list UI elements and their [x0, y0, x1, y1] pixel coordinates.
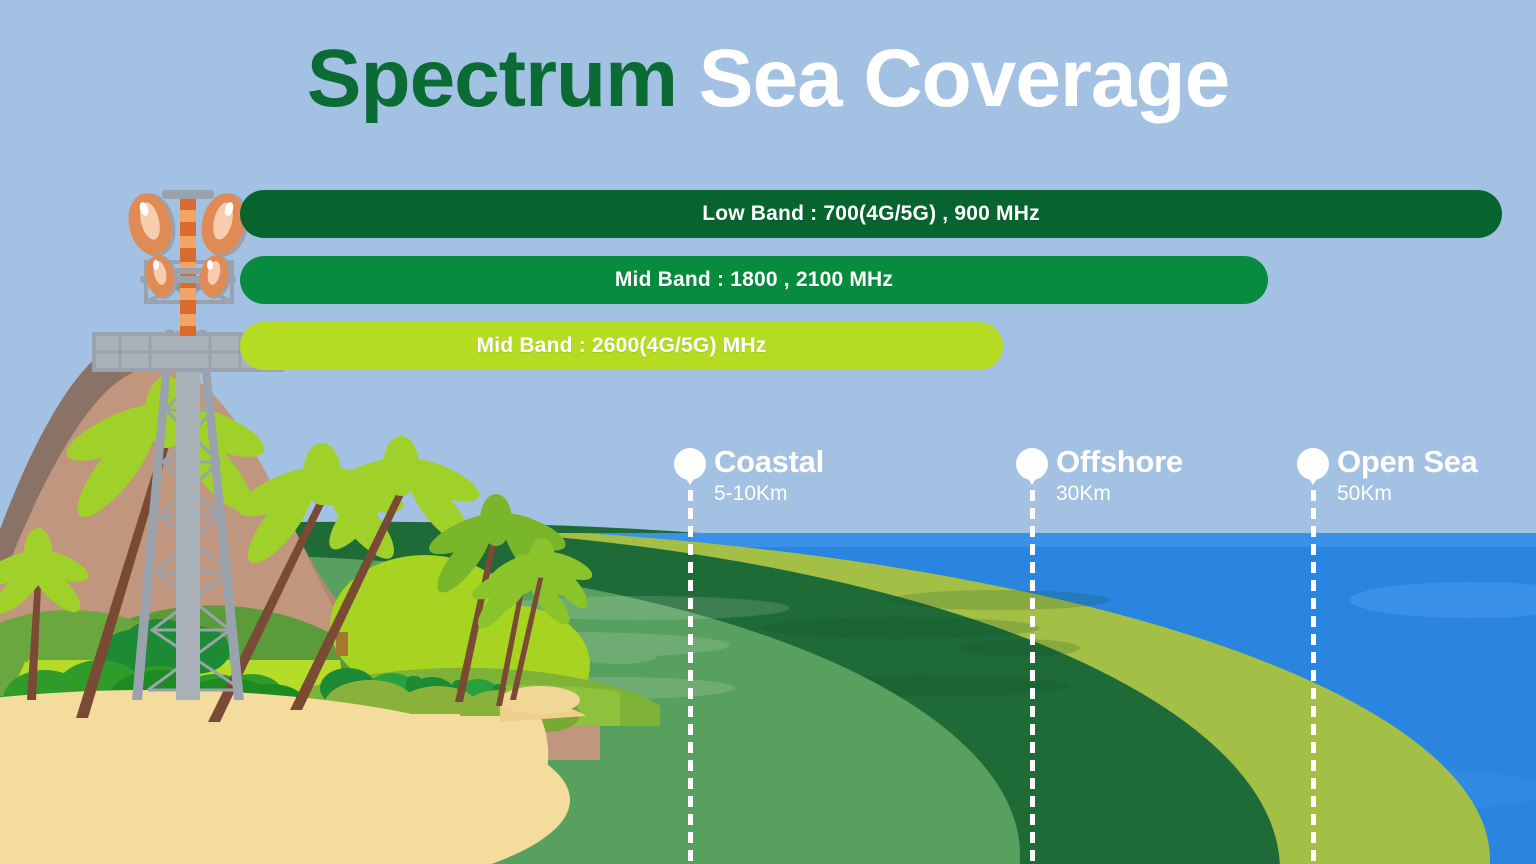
- marker-distance: 30Km: [1056, 482, 1111, 506]
- tower-column: [176, 330, 200, 700]
- infographic-root: Spectrum Sea Coverage Low Band : 700(4G/…: [0, 0, 1536, 864]
- band-bar-mid-2[interactable]: Mid Band : 2600(4G/5G) MHz: [240, 322, 1003, 370]
- spectrum-band-list: Low Band : 700(4G/5G) , 900 MHz Mid Band…: [240, 190, 1502, 388]
- marker-label: Open Sea: [1337, 444, 1478, 480]
- page-title-part2: Sea Coverage: [699, 33, 1229, 124]
- band-bar-mid-1[interactable]: Mid Band : 1800 , 2100 MHz: [240, 256, 1268, 304]
- tower-mast-cap: [162, 190, 214, 199]
- hut: [336, 632, 348, 656]
- marker-distance: 50Km: [1337, 482, 1392, 506]
- tower-mast: [180, 196, 196, 336]
- marker-dashed-line: [1311, 490, 1316, 864]
- band-bar-label: Mid Band : 2600(4G/5G) MHz: [477, 334, 767, 358]
- map-pin-icon: [674, 448, 706, 480]
- band-bar-low[interactable]: Low Band : 700(4G/5G) , 900 MHz: [240, 190, 1502, 238]
- marker-dashed-line: [1030, 490, 1035, 864]
- band-bar-label: Mid Band : 1800 , 2100 MHz: [615, 268, 893, 292]
- marker-dashed-line: [688, 490, 693, 864]
- band-bar-label: Low Band : 700(4G/5G) , 900 MHz: [702, 202, 1040, 226]
- page-title: Spectrum Sea Coverage: [0, 38, 1536, 120]
- scene-illustration: [0, 0, 1536, 864]
- map-pin-icon: [1016, 448, 1048, 480]
- page-title-part1: Spectrum: [307, 33, 699, 124]
- marker-distance: 5-10Km: [714, 482, 788, 506]
- beach-sand-block: [0, 714, 460, 864]
- marker-label: Coastal: [714, 444, 824, 480]
- marker-label: Offshore: [1056, 444, 1183, 480]
- map-pin-icon: [1297, 448, 1329, 480]
